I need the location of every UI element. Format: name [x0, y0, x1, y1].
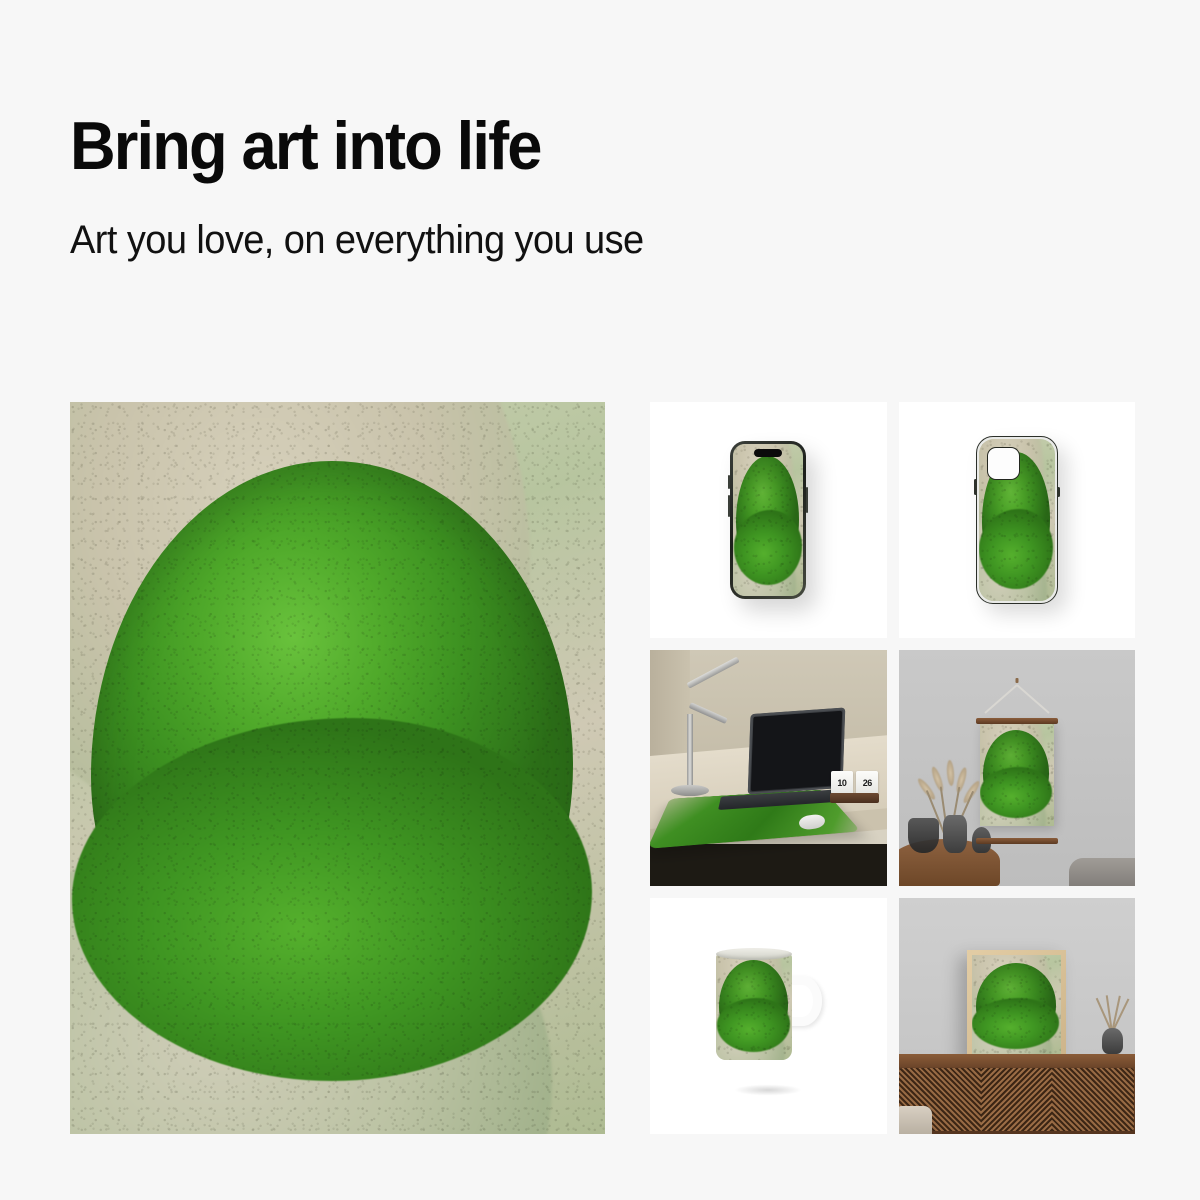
desk-shadow-underside	[650, 844, 887, 886]
hero-artwork-image[interactable]	[70, 402, 605, 1134]
phone-device	[730, 441, 806, 599]
product-tile-desk-mat[interactable]: 10 26	[650, 650, 887, 886]
walnut-sideboard	[899, 1054, 1136, 1134]
artwork-grain-texture	[70, 402, 605, 1134]
product-tile-framed-print[interactable]	[899, 898, 1136, 1134]
ceramic-vase-tall	[943, 815, 967, 853]
armchair-corner	[899, 1106, 932, 1134]
sofa	[1069, 858, 1135, 886]
product-tile-phone-case[interactable]	[899, 402, 1136, 638]
laptop-screen	[751, 711, 842, 792]
product-tile-mug[interactable]	[650, 898, 887, 1134]
canvas-rail-top	[976, 718, 1058, 724]
picture-frame	[967, 950, 1066, 1061]
page-title: Bring art into life	[70, 112, 907, 180]
dark-vase	[1102, 1028, 1123, 1054]
mug	[716, 952, 820, 1062]
glass-vase	[908, 818, 939, 853]
product-tile-phone[interactable]	[650, 402, 887, 638]
phone-power-button	[806, 487, 808, 513]
product-tile-hanging-canvas[interactable]	[899, 650, 1136, 886]
flip-calendar-day: 26	[856, 771, 878, 794]
case-printed-surface	[979, 439, 1055, 601]
page-header: Bring art into life Art you love, on eve…	[70, 112, 970, 262]
canvas-rail-bottom	[976, 838, 1058, 844]
framed-artwork	[972, 955, 1061, 1056]
flip-calendar-stand	[830, 793, 880, 803]
phone-mute-switch	[728, 475, 730, 489]
camera-cutout-icon	[987, 447, 1020, 480]
product-showcase-page: Bring art into life Art you love, on eve…	[0, 0, 1200, 1200]
dynamic-island-icon	[754, 449, 782, 457]
lamp-stem	[687, 714, 693, 790]
sideboard-slat-pattern-center	[981, 1068, 1053, 1131]
phone-case	[976, 436, 1058, 604]
phone-volume-buttons	[728, 495, 730, 517]
case-button-cutout-left	[974, 479, 977, 495]
hanging-cord	[979, 683, 1055, 715]
sideboard-top	[899, 1054, 1136, 1067]
mug-printed-body	[716, 952, 792, 1060]
artwork-render	[70, 402, 605, 1134]
desk-scene: 10 26	[650, 650, 887, 886]
case-button-cutout-right	[1057, 487, 1060, 497]
mug-shadow	[720, 1082, 816, 1098]
dried-grass	[1097, 995, 1125, 1033]
product-mockup-grid: 10 26	[650, 402, 1135, 1134]
flip-calendar-month: 10	[831, 771, 853, 794]
page-subtitle: Art you love, on everything you use	[70, 218, 925, 262]
canvas-print	[980, 722, 1054, 826]
flip-calendar-cards: 10 26	[831, 771, 879, 794]
phone-screen	[733, 444, 803, 596]
mug-rim	[716, 948, 792, 960]
flip-calendar: 10 26	[830, 773, 880, 804]
